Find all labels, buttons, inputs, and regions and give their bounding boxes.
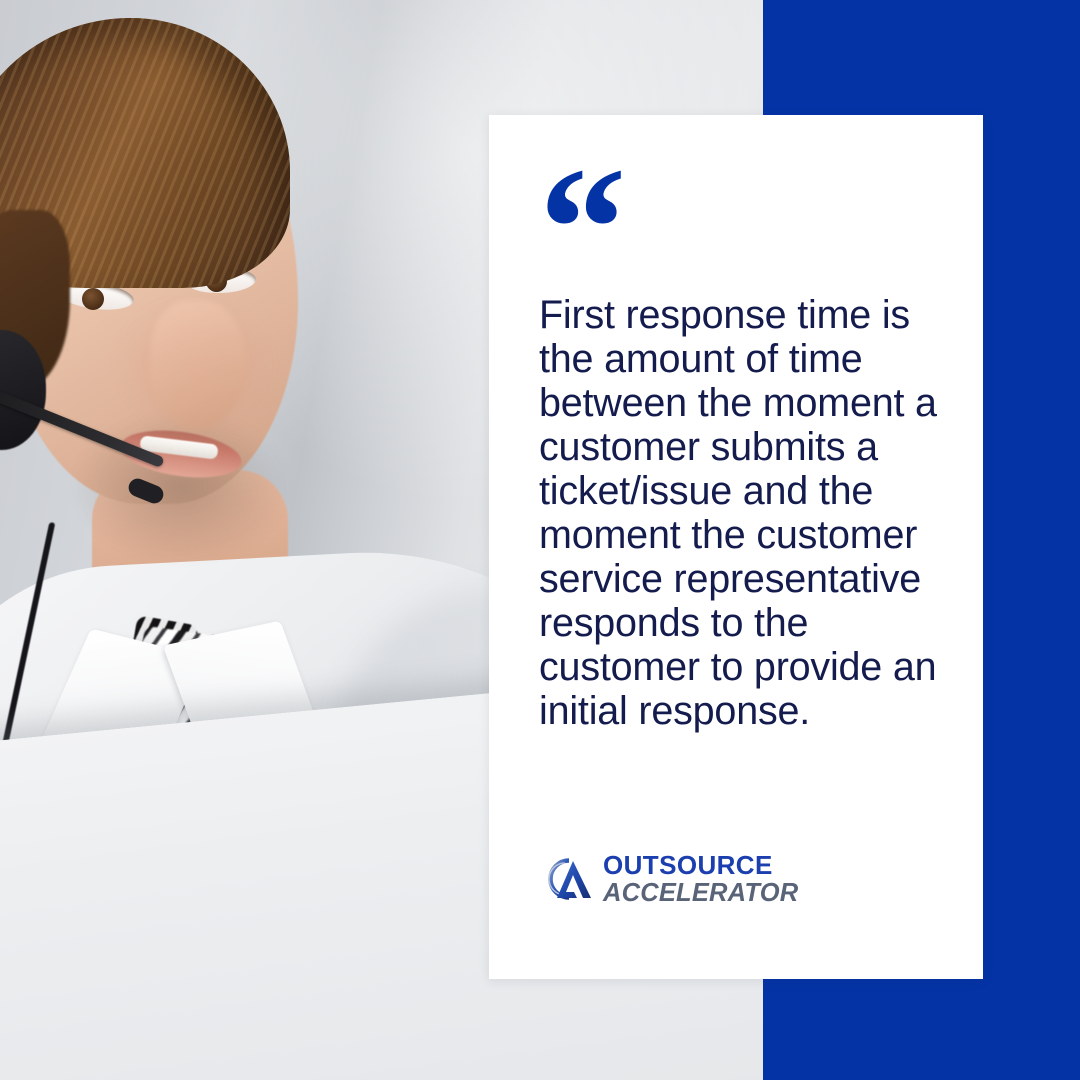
logo-line-outsource: OUTSOURCE [603, 852, 798, 878]
outsource-accelerator-logo[interactable]: OUTSOURCE ACCELERATOR [539, 852, 798, 907]
iris-left [82, 288, 104, 310]
blue-panel-bottom-right [763, 982, 1080, 1080]
ca-monogram-icon [539, 856, 595, 902]
social-quote-graphic: “ First response time is the amount of t… [0, 0, 1080, 1080]
quote-body-text: First response time is the amount of tim… [539, 293, 943, 733]
quote-card: “ First response time is the amount of t… [489, 115, 983, 979]
logo-line-accelerator: ACCELERATOR [603, 881, 798, 907]
logo-wordmark: OUTSOURCE ACCELERATOR [603, 852, 798, 907]
quote-card-content: “ First response time is the amount of t… [539, 165, 943, 733]
quotation-mark-icon: “ [539, 165, 943, 263]
